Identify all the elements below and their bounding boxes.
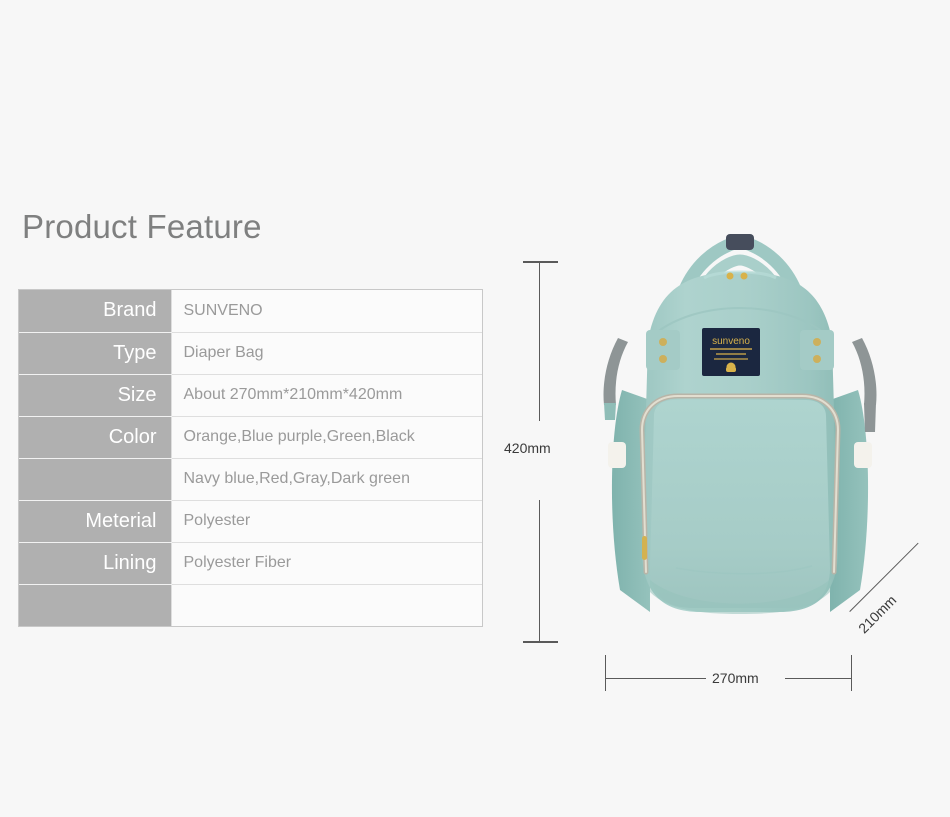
table-row: Brand SUNVENO	[19, 290, 482, 332]
patch-line-1	[710, 348, 752, 350]
pocket-zipper-pull	[642, 536, 647, 560]
product-feature-page: Product Feature Brand SUNVENO Type Diape…	[0, 0, 950, 817]
table-row: Navy blue,Red,Gray,Dark green	[19, 458, 482, 500]
table-row: Type Diaper Bag	[19, 332, 482, 374]
left-buckle	[608, 442, 626, 468]
spec-key-size: Size	[19, 374, 171, 416]
spec-key-color-continued	[19, 458, 171, 500]
spec-value-color: Orange,Blue purple,Green,Black	[171, 416, 482, 458]
table-row: Lining Polyester Fiber	[19, 542, 482, 584]
spec-value-type: Diaper Bag	[171, 332, 482, 374]
table-row: Size About 270mm*210mm*420mm	[19, 374, 482, 416]
rivet-left-bottom	[659, 355, 667, 363]
patch-line-2	[716, 353, 746, 355]
rivet-right-top	[813, 338, 821, 346]
height-dimension-line-upper	[539, 263, 540, 421]
width-dimension-line-right	[785, 678, 851, 679]
spec-value-brand: SUNVENO	[171, 290, 482, 332]
width-dimension-tick-left	[605, 655, 606, 691]
table-row: Meterial Polyester	[19, 500, 482, 542]
spec-key-brand: Brand	[19, 290, 171, 332]
spec-value-meterial: Polyester	[171, 500, 482, 542]
top-zipper-pull-left	[727, 273, 734, 280]
table-row	[19, 584, 482, 626]
patch-line-3	[714, 358, 748, 360]
left-strap-tab	[604, 403, 616, 420]
width-dimension-line-left	[606, 678, 706, 679]
spec-value-empty	[171, 584, 482, 626]
product-image-backpack: sunveno	[580, 220, 900, 640]
right-strap-tab	[864, 403, 876, 432]
brand-patch-text: sunveno	[712, 336, 750, 347]
spec-key-empty	[19, 584, 171, 626]
table-row: Color Orange,Blue purple,Green,Black	[19, 416, 482, 458]
front-pocket	[650, 400, 830, 608]
width-dimension-tick-right	[851, 655, 852, 691]
spec-value-lining: Polyester Fiber	[171, 542, 482, 584]
spec-value-size: About 270mm*210mm*420mm	[171, 374, 482, 416]
width-dimension-label: 270mm	[712, 670, 759, 686]
spec-value-color-continued: Navy blue,Red,Gray,Dark green	[171, 458, 482, 500]
spec-key-type: Type	[19, 332, 171, 374]
handle-wrap	[726, 234, 754, 250]
height-dimension-cap-top	[523, 261, 558, 263]
spec-key-color: Color	[19, 416, 171, 458]
left-handle-anchor	[646, 330, 680, 370]
top-zipper-pull-right	[741, 273, 748, 280]
height-dimension-line-lower	[539, 500, 540, 642]
spec-key-lining: Lining	[19, 542, 171, 584]
height-dimension-cap-bottom	[523, 641, 558, 643]
rivet-left-top	[659, 338, 667, 346]
right-buckle	[854, 442, 872, 468]
page-title: Product Feature	[22, 208, 262, 246]
rivet-right-bottom	[813, 355, 821, 363]
height-dimension-label: 420mm	[504, 440, 551, 456]
spec-key-meterial: Meterial	[19, 500, 171, 542]
spec-table: Brand SUNVENO Type Diaper Bag Size About…	[18, 289, 483, 627]
right-handle-anchor	[800, 330, 834, 370]
